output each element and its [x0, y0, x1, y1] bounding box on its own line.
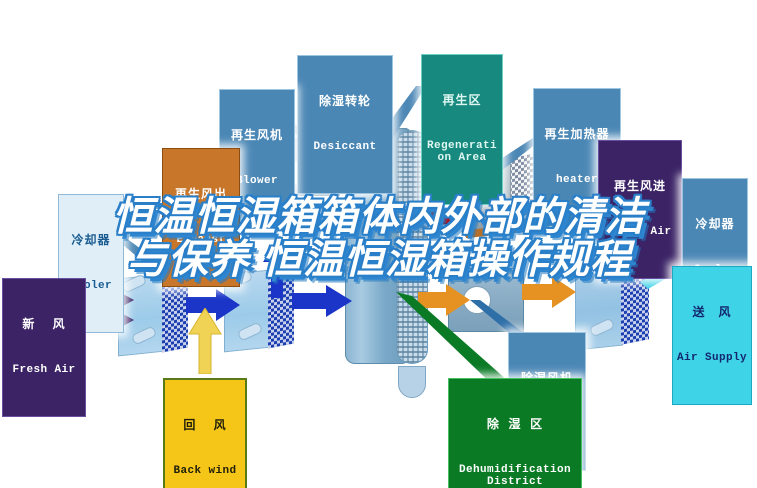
label-cooler-right-cn: 冷却器 [686, 218, 744, 231]
label-regen-fresh-air-cn: 再生风进 [602, 180, 678, 193]
regen-heater-mesh [509, 153, 535, 233]
label-fresh-air-cn: 新 风 [6, 318, 82, 331]
label-regen-fresh-air-en: Fresh Air [602, 227, 678, 239]
label-regen-area-cn: 再生区 [425, 94, 499, 107]
leader-dehum-district [396, 292, 516, 392]
label-desiccant-en: Desiccant [302, 142, 388, 154]
regen-inlet-marker [428, 207, 466, 226]
arrow-blower-to-supply-coil [522, 276, 576, 308]
label-back-wind-en: Back wind [168, 466, 242, 478]
dehumidifier-diagram: XT [0, 0, 757, 488]
label-desiccant[interactable]: 除湿转轮 Desiccant [297, 55, 393, 194]
arrow-dehum-flow-2 [292, 284, 352, 318]
label-dehum-district-cn: 除 湿 区 [453, 418, 577, 431]
label-dehum-district[interactable]: 除 湿 区 Dehumidification District [448, 378, 582, 488]
arrow-back-wind-up [188, 308, 222, 374]
label-regen-area-en: Regenerati on Area [425, 141, 499, 165]
label-cooler-left-cn: 冷却器 [62, 234, 120, 247]
label-exhaust[interactable]: 再生风出 Exhaust [162, 148, 240, 287]
label-fresh-air[interactable]: 新 风 Fresh Air [2, 278, 86, 417]
label-exhaust-en: Exhaust [166, 235, 236, 247]
label-regen-blower-cn: 再生风机 [223, 129, 291, 142]
label-exhaust-cn: 再生风出 [166, 188, 236, 201]
label-desiccant-cn: 除湿转轮 [302, 95, 388, 108]
label-air-supply-cn: 送 风 [676, 306, 748, 319]
label-back-wind[interactable]: 回 风 Back wind [163, 378, 247, 488]
label-air-supply-en: Air Supply [676, 353, 748, 365]
arrow-return-up [262, 240, 292, 298]
label-regen-heater-cn: 再生加热器 [537, 128, 617, 141]
label-dehum-district-en: Dehumidification District [453, 465, 577, 488]
label-regen-fresh-air[interactable]: 再生风进 Fresh Air [598, 140, 682, 279]
label-air-supply[interactable]: 送 风 Air Supply [672, 266, 752, 405]
label-regen-area[interactable]: 再生区 Regenerati on Area [421, 54, 503, 205]
label-fresh-air-en: Fresh Air [6, 365, 82, 377]
label-back-wind-cn: 回 风 [168, 419, 242, 432]
